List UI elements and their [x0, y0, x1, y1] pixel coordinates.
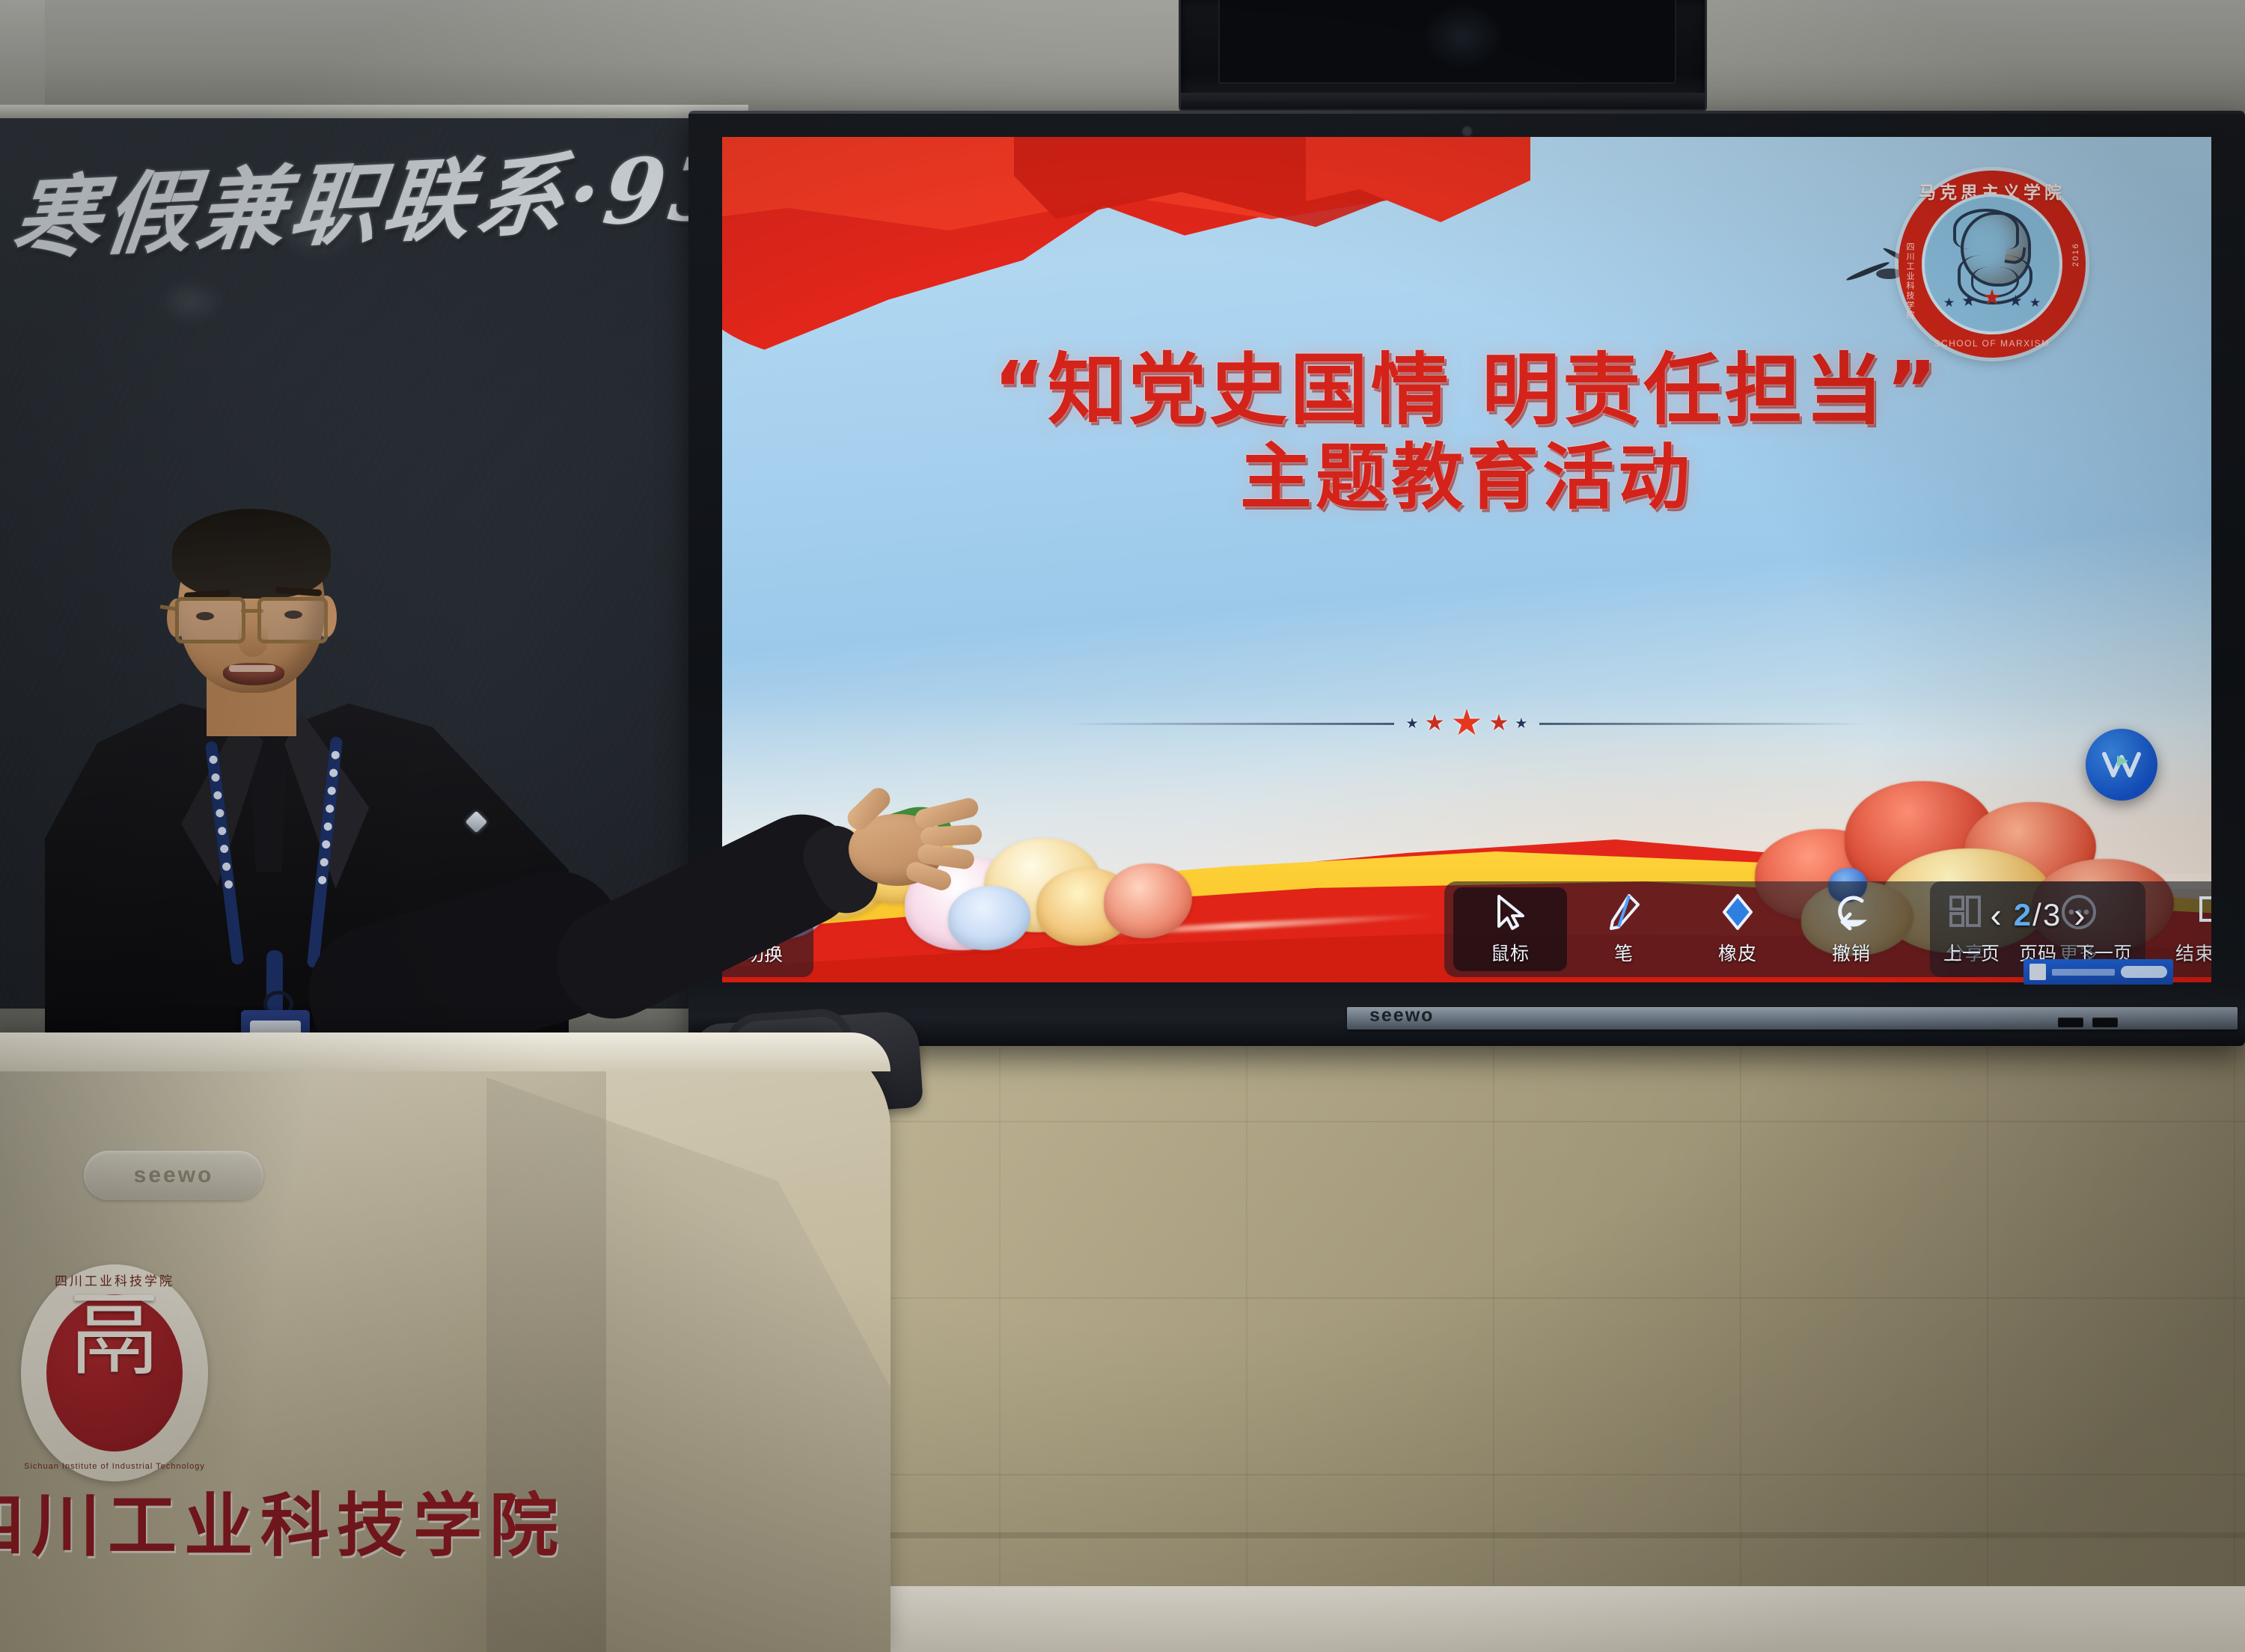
taskbar-app-icon[interactable]	[2029, 964, 2046, 980]
pager-total-pages: 3	[2043, 897, 2062, 932]
presenter	[45, 516, 569, 1100]
university-name-text: 四川工业科技学院	[0, 1470, 434, 1570]
windows-taskbar-sliver[interactable]	[2023, 959, 2173, 985]
divider-stars: ★ ★ ★ ★ ★	[1406, 706, 1528, 741]
slide-title-line-2: 主题教育活动	[722, 436, 2211, 518]
display-brand-label: seewo	[1369, 1005, 1434, 1027]
eraser-icon	[1720, 893, 1755, 931]
emblem-star-3: ★	[1982, 287, 2002, 309]
divider-star-3: ★	[1450, 706, 1482, 741]
emblem-star-4: ★	[2009, 293, 2023, 309]
camera-dot-icon	[1463, 127, 1471, 135]
divider-star-5: ★	[1515, 717, 1527, 731]
tool-cursor-label: 鼠标	[1491, 939, 1530, 966]
end-show-icon	[2196, 893, 2211, 931]
pager-current-page: 2	[2014, 897, 2032, 932]
chalk-smudge-2	[157, 279, 224, 324]
pager-page-indicator: 2/3	[2014, 897, 2062, 933]
university-emblem-glyph: 鬲	[21, 1291, 208, 1381]
floor-line	[752, 1532, 2245, 1538]
tool-pen[interactable]: 笔	[1567, 887, 1681, 971]
podium-top-surface	[0, 1032, 891, 1071]
divider-line-right	[1539, 723, 1869, 725]
marxism-school-emblem: 马克思主义学院 四川工业科技学院 2016 SCHOOL OF MARXISM …	[1899, 171, 2086, 358]
taskbar-pill-button[interactable]	[2121, 966, 2167, 978]
tool-pen-label: 笔	[1614, 939, 1634, 966]
cursor-icon	[1493, 893, 1527, 931]
emblem-star-1: ★	[1943, 296, 1955, 309]
panel-base	[1181, 93, 1705, 109]
slide-title-line-1: “知党史国情 明责任担当”	[722, 346, 2211, 433]
pager-prev-arrow[interactable]: ‹	[1990, 898, 2001, 932]
pager-row: ‹ 2/3 ›	[1990, 893, 2085, 937]
university-emblem: 鬲 四川工业科技学院 Sichuan Institute of Industri…	[21, 1264, 208, 1481]
wall-left-strip	[0, 0, 45, 112]
emblem-right-text: 2016	[2071, 242, 2080, 266]
display-ports	[2058, 1018, 2148, 1034]
wall-mounted-panel	[1179, 0, 1707, 111]
emblem-star-2: ★	[1961, 293, 1976, 309]
divider-star-4: ★	[1489, 712, 1509, 735]
divider-star-1: ★	[1406, 717, 1419, 731]
divider-line-left	[1065, 723, 1394, 725]
hand	[831, 786, 980, 905]
emblem-star-5: ★	[2029, 296, 2041, 309]
star-divider: ★ ★ ★ ★ ★	[722, 706, 2211, 741]
pager-prev-label[interactable]: 上一页	[1943, 939, 2000, 966]
tool-eraser[interactable]: 橡皮	[1681, 887, 1795, 971]
emblem-inner-disc: ★ ★ ★ ★ ★	[1922, 194, 2062, 334]
tool-undo-label: 撤销	[1832, 939, 1871, 966]
divider-star-2: ★	[1425, 712, 1445, 735]
panel-glint	[1422, 3, 1504, 70]
tool-end-show-label: 结束放映	[2175, 939, 2211, 966]
emblem-left-text: 四川工业科技学院	[1904, 242, 1916, 320]
podium-brand-label: seewo	[134, 1163, 214, 1188]
bezel-highlight	[688, 111, 2245, 114]
tool-eraser-label: 橡皮	[1718, 939, 1757, 966]
podium-brand-plate: seewo	[84, 1151, 263, 1200]
pager-separator: /	[2032, 897, 2043, 932]
screenshot-root: 寒假兼职联系·93805224I 马克思主义学院 四川工业科技学院 2016 S…	[0, 0, 2245, 1652]
slide-title-block: “知党史国情 明责任担当” 主题教育活动	[722, 346, 2211, 519]
pager-next-arrow[interactable]: ›	[2074, 898, 2085, 932]
tool-cursor[interactable]: 鼠标	[1453, 887, 1567, 971]
chalk-rail	[0, 105, 748, 118]
ceiling-wall	[0, 0, 2245, 112]
university-emblem-arc-top: 四川工业科技学院	[21, 1270, 208, 1289]
undo-icon	[1833, 893, 1869, 931]
pen-icon	[1607, 893, 1641, 931]
taskbar-title-text	[2052, 969, 2115, 976]
wps-logo-icon[interactable]	[2086, 729, 2157, 801]
tool-undo[interactable]: 撤销	[1795, 887, 1908, 971]
emblem-stars: ★ ★ ★ ★ ★	[1922, 287, 2062, 309]
